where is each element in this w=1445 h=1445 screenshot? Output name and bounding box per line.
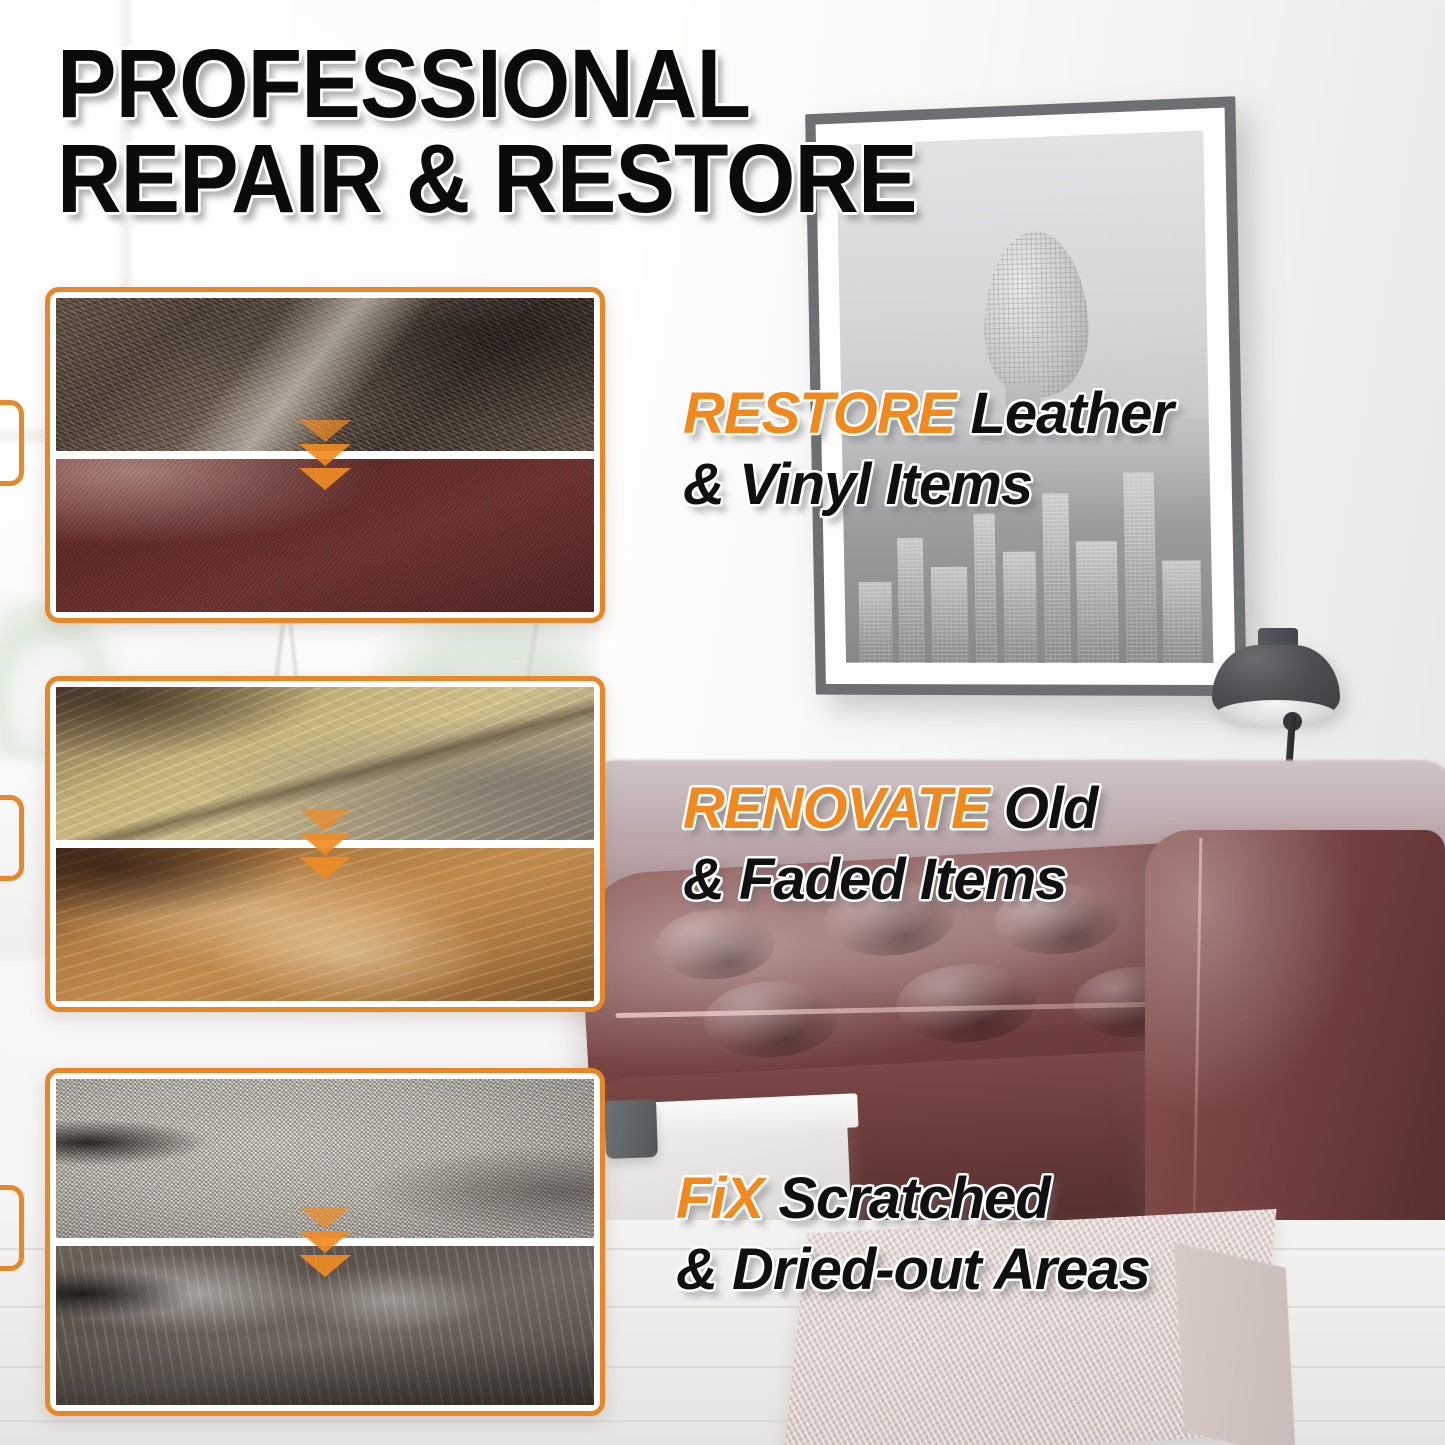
feature-line-2: & Faded Items (683, 844, 1097, 915)
before-after-panel-armrest[interactable] (45, 1068, 605, 1416)
panel-edge-arc (0, 1185, 24, 1271)
feature-rest: Scratched (763, 1166, 1050, 1231)
feature-keyword: FiX (676, 1166, 763, 1231)
after-image-sofa (56, 848, 594, 1001)
headline-line-1: PROFESSIONAL (57, 29, 750, 138)
product-ad-canvas: PROFESSIONAL REPAIR & RESTORE RESTORE Le… (0, 0, 1445, 1445)
panel-edge-arc (0, 400, 24, 486)
sofa-armrest (1145, 830, 1445, 1230)
feature-restore: RESTORE Leather & Vinyl Items (683, 378, 1173, 521)
panel-edge-arc (0, 795, 24, 881)
lamp-inner-shade (1216, 700, 1336, 728)
before-after-panel-sofa[interactable] (45, 676, 605, 1012)
before-image-leather (56, 298, 594, 451)
feature-rest: Leather (955, 381, 1173, 446)
jute-rug-edge (1174, 1242, 1295, 1445)
after-image-armrest (56, 1246, 594, 1405)
feature-renovate: RENOVATE Old & Faded Items (683, 773, 1097, 916)
grey-cup (604, 1099, 658, 1159)
feature-line-2: & Dried-out Areas (676, 1234, 1150, 1305)
before-image-sofa (56, 687, 594, 840)
after-image-leather (56, 459, 594, 612)
before-image-armrest (56, 1079, 594, 1238)
feature-keyword: RESTORE (683, 381, 955, 446)
feature-keyword: RENOVATE (683, 776, 989, 841)
feature-fix: FiX Scratched & Dried-out Areas (676, 1163, 1150, 1306)
feature-line-2: & Vinyl Items (683, 449, 1173, 520)
feature-rest: Old (989, 776, 1098, 841)
before-after-panel-leather[interactable] (45, 287, 605, 623)
page-title: PROFESSIONAL REPAIR & RESTORE (57, 36, 1087, 226)
headline-line-2: REPAIR & RESTORE (57, 124, 917, 233)
